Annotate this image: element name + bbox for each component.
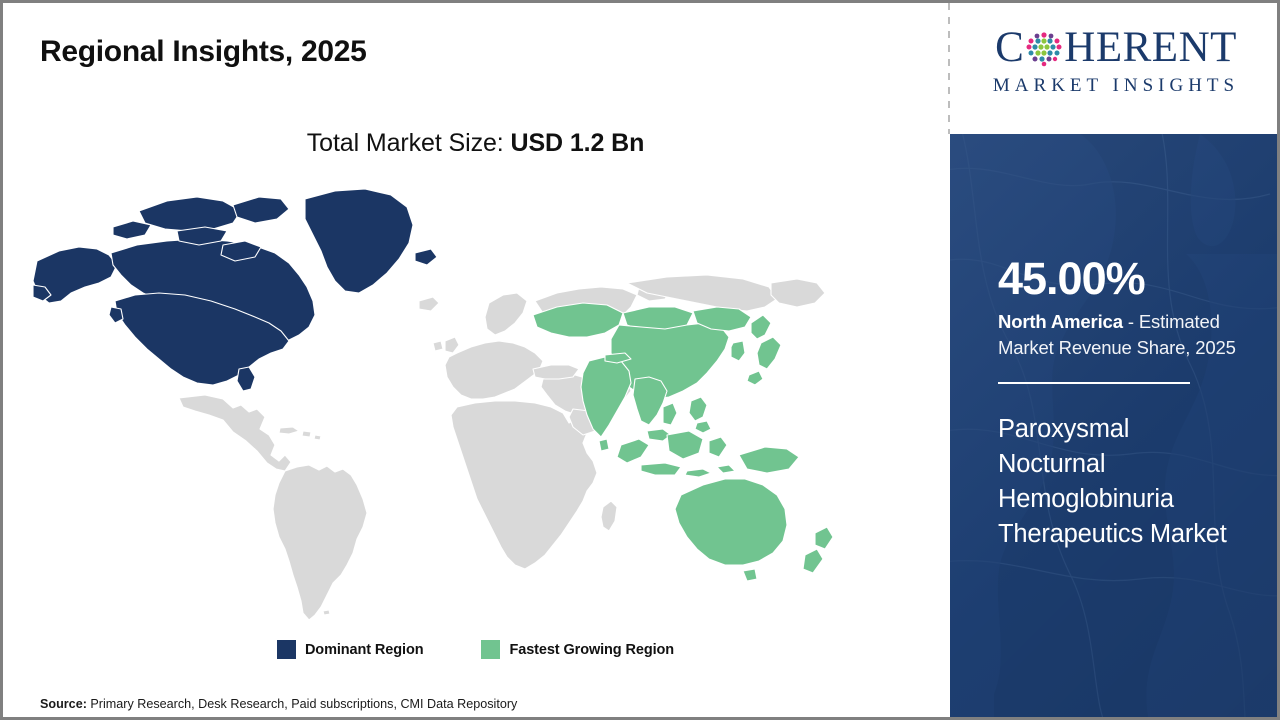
legend-item-dominant: Dominant Region xyxy=(277,640,424,659)
total-market-size: Total Market Size: USD 1.2 Bn xyxy=(3,129,948,158)
legend-swatch-fastest-growing-icon xyxy=(481,640,500,659)
company-logo[interactable]: C xyxy=(968,23,1264,97)
map-legend: Dominant Region Fastest Growing Region xyxy=(3,640,948,659)
left-map-panel: Regional Insights, 2025 Total Market Siz… xyxy=(3,3,948,717)
report-title: Paroxysmal Nocturnal Hemoglobinuria Ther… xyxy=(998,412,1243,553)
logo-word-coherent: HERENT xyxy=(1064,26,1237,69)
world-map xyxy=(27,183,857,623)
legend-swatch-dominant-icon xyxy=(277,640,296,659)
share-percentage: 45.00% xyxy=(998,256,1243,301)
legend-item-fastest-growing: Fastest Growing Region xyxy=(481,640,674,659)
logo-subtitle: MARKET INSIGHTS xyxy=(968,75,1264,97)
logo-letter-c: C xyxy=(995,26,1024,69)
total-market-size-value: USD 1.2 Bn xyxy=(510,129,644,157)
source-label: Source: xyxy=(40,697,87,711)
dotted-globe-icon xyxy=(1025,26,1063,68)
logo-wordmark: C xyxy=(968,23,1264,71)
panel-divider-rule xyxy=(998,382,1190,384)
source-note: Source: Primary Research, Desk Research,… xyxy=(40,697,517,711)
total-market-size-label: Total Market Size: xyxy=(307,129,511,157)
panel-content: 45.00% North America - Estimated Market … xyxy=(998,256,1243,552)
legend-label-dominant: Dominant Region xyxy=(305,642,424,658)
regional-insights-infographic: Regional Insights, 2025 Total Market Siz… xyxy=(0,0,1280,720)
share-description: North America - Estimated Market Revenue… xyxy=(998,309,1243,362)
right-summary-panel: 45.00% North America - Estimated Market … xyxy=(950,134,1277,717)
legend-label-fastest-growing: Fastest Growing Region xyxy=(509,642,674,658)
page-title: Regional Insights, 2025 xyxy=(40,35,367,69)
share-region-name: North America xyxy=(998,311,1123,332)
vertical-dashed-divider xyxy=(948,3,950,134)
source-value: Primary Research, Desk Research, Paid su… xyxy=(87,697,517,711)
map-region-dominant xyxy=(33,189,437,391)
